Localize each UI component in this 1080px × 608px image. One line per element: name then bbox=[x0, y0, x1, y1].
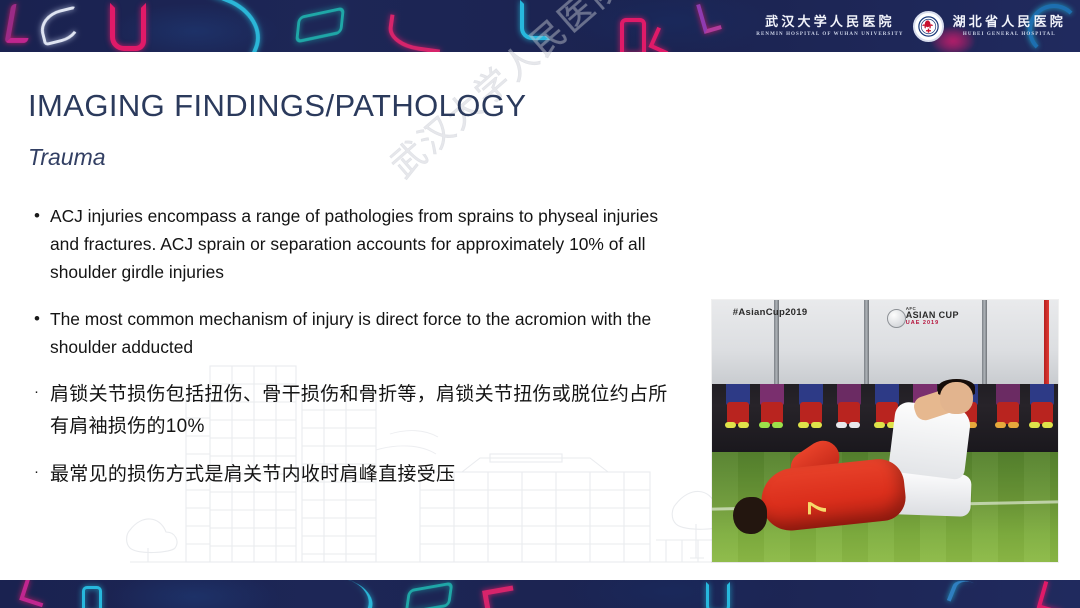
neon-shape-magenta-wave bbox=[386, 14, 444, 52]
hospital-emblem-icon bbox=[913, 11, 944, 42]
neon-shape-magenta-bone bbox=[620, 18, 646, 52]
page-subtitle: Trauma bbox=[28, 144, 106, 171]
player-white-head bbox=[940, 382, 973, 414]
neon-shape-cyan-4 bbox=[706, 582, 730, 608]
photo-banner-title: ASIAN CUP bbox=[906, 310, 959, 320]
bullet-marker-icon: • bbox=[34, 202, 50, 230]
logo-right-english: HUBEI GENERAL HOSPITAL bbox=[963, 32, 1056, 37]
logo-left-block: 武汉大学人民医院 RENMIN HOSPITAL OF WUHAN UNIVER… bbox=[756, 15, 903, 37]
bullet-list: • ACJ injuries encompass a range of path… bbox=[34, 202, 684, 506]
neon-shape-cyan-j bbox=[520, 0, 550, 40]
neon-shape-magenta-2 bbox=[648, 27, 675, 52]
neon-shape-cyan-5 bbox=[947, 580, 1001, 608]
neon-shape-cyan-2 bbox=[82, 586, 102, 608]
slide-footer-band bbox=[0, 580, 1080, 608]
logo-left-chinese: 武汉大学人民医院 bbox=[765, 15, 895, 28]
neon-shape-cyan-fan bbox=[193, 0, 271, 52]
logo-right-chinese: 湖北省人民医院 bbox=[953, 15, 1066, 28]
bullet-marker-icon: · bbox=[34, 459, 50, 485]
neon-shape-magenta-3 bbox=[19, 580, 49, 607]
bullet-text-2: The most common mechanism of injury is d… bbox=[50, 305, 684, 361]
player-red-body: 7 bbox=[758, 457, 908, 533]
logo-right-block: 湖北省人民医院 HUBEI GENERAL HOSPITAL bbox=[953, 15, 1066, 37]
photo-player-red: 7 bbox=[733, 444, 934, 554]
photo-sponsor-board: #AsianCup2019 AFC ASIAN CUP UAE 2019 bbox=[712, 300, 1058, 384]
bullet-text-4: 最常见的损伤方式是肩关节内收时肩峰直接受压 bbox=[50, 459, 455, 491]
neon-shape-magenta-hook bbox=[110, 3, 146, 51]
bullet-marker-icon: • bbox=[34, 305, 50, 333]
player-jersey-number: 7 bbox=[802, 501, 833, 515]
photo-banner-hashtag: #AsianCup2019 bbox=[733, 307, 808, 318]
neon-shape-white-bird bbox=[37, 6, 84, 47]
neon-shape-cyan-3 bbox=[316, 580, 377, 608]
neon-shape-violet-spark bbox=[696, 0, 722, 34]
neon-shape-magenta-5 bbox=[1037, 581, 1070, 608]
bullet-item-2: • The most common mechanism of injury is… bbox=[34, 305, 684, 361]
bullet-text-3: 肩锁关节损伤包括扭伤、骨干损伤和骨折等，肩锁关节扭伤或脱位约占所有肩袖损伤的10… bbox=[50, 379, 684, 444]
neon-shape-teal-plate bbox=[295, 6, 345, 43]
photo-banner-asiancup: AFC ASIAN CUP UAE 2019 bbox=[906, 307, 959, 327]
slide-header-band: 武汉大学人民医院 RENMIN HOSPITAL OF WUHAN UNIVER… bbox=[0, 0, 1080, 52]
neon-shape-teal-plate-2 bbox=[405, 582, 454, 608]
bullet-marker-icon: · bbox=[34, 379, 50, 405]
hospital-logo: 武汉大学人民医院 RENMIN HOSPITAL OF WUHAN UNIVER… bbox=[756, 7, 1066, 45]
photo-banner-sub: UAE 2019 bbox=[906, 321, 959, 327]
bullet-item-4: · 最常见的损伤方式是肩关节内收时肩峰直接受压 bbox=[34, 459, 684, 491]
photo-afc-ball-icon bbox=[887, 309, 906, 328]
logo-left-english: RENMIN HOSPITAL OF WUHAN UNIVERSITY bbox=[756, 32, 903, 37]
bullet-item-3: · 肩锁关节损伤包括扭伤、骨干损伤和骨折等，肩锁关节扭伤或脱位约占所有肩袖损伤的… bbox=[34, 379, 684, 444]
neon-shape-magenta-1 bbox=[5, 4, 35, 43]
soccer-injury-photo: #AsianCup2019 AFC ASIAN CUP UAE 2019 7 bbox=[712, 300, 1058, 562]
neon-shape-magenta-4 bbox=[482, 585, 517, 608]
player-red-head bbox=[733, 497, 767, 534]
bullet-text-1: ACJ injuries encompass a range of pathol… bbox=[50, 202, 684, 287]
page-title: IMAGING FINDINGS/PATHOLOGY bbox=[28, 88, 526, 124]
presentation-slide: 武汉大学人民医院 RENMIN HOSPITAL OF WUHAN UNIVER… bbox=[0, 0, 1080, 608]
bullet-item-1: • ACJ injuries encompass a range of path… bbox=[34, 202, 684, 287]
